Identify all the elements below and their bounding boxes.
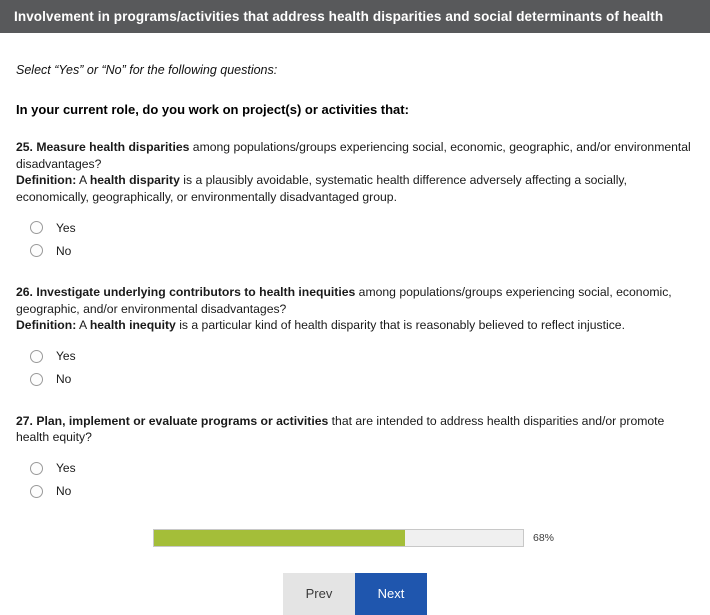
definition-25: Definition: A health disparity is a plau… bbox=[16, 172, 694, 205]
options-26: Yes No bbox=[16, 345, 694, 391]
radio-circle-icon[interactable] bbox=[30, 244, 43, 257]
radio-option-27-no[interactable]: No bbox=[16, 480, 694, 503]
definition-label-26: Definition: bbox=[16, 318, 76, 332]
question-number-27: 27. bbox=[16, 414, 33, 428]
option-label-no: No bbox=[56, 244, 71, 258]
option-label-yes: Yes bbox=[56, 349, 76, 363]
radio-option-25-yes[interactable]: Yes bbox=[16, 216, 694, 239]
progress-bar-fill bbox=[154, 530, 405, 546]
question-text-26: 26. Investigate underlying contributors … bbox=[16, 284, 694, 317]
radio-circle-icon[interactable] bbox=[30, 221, 43, 234]
radio-circle-icon[interactable] bbox=[30, 350, 43, 363]
options-25: Yes No bbox=[16, 216, 694, 262]
question-text-25: 25. Measure health disparities among pop… bbox=[16, 139, 694, 172]
prev-button[interactable]: Prev bbox=[283, 573, 355, 615]
radio-option-27-yes[interactable]: Yes bbox=[16, 457, 694, 480]
progress-bar-track bbox=[153, 529, 524, 547]
instruction-text: Select “Yes” or “No” for the following q… bbox=[16, 63, 694, 77]
progress-area: 68% bbox=[16, 529, 694, 547]
radio-circle-icon[interactable] bbox=[30, 462, 43, 475]
next-button[interactable]: Next bbox=[355, 573, 427, 615]
role-prompt-text: In your current role, do you work on pro… bbox=[16, 102, 694, 117]
question-block-27: 27. Plan, implement or evaluate programs… bbox=[16, 413, 694, 503]
options-27: Yes No bbox=[16, 457, 694, 503]
option-label-no: No bbox=[56, 484, 71, 498]
question-block-26: 26. Investigate underlying contributors … bbox=[16, 284, 694, 391]
radio-option-26-yes[interactable]: Yes bbox=[16, 345, 694, 368]
definition-term-25: health disparity bbox=[90, 173, 180, 187]
question-block-25: 25. Measure health disparities among pop… bbox=[16, 139, 694, 262]
definition-label-25: Definition: bbox=[16, 173, 76, 187]
option-label-no: No bbox=[56, 372, 71, 386]
navigation-buttons: Prev Next bbox=[16, 573, 694, 615]
option-label-yes: Yes bbox=[56, 461, 76, 475]
radio-option-25-no[interactable]: No bbox=[16, 239, 694, 262]
definition-pre-26: A bbox=[76, 318, 90, 332]
definition-rest-26: is a particular kind of health disparity… bbox=[176, 318, 625, 332]
radio-circle-icon[interactable] bbox=[30, 485, 43, 498]
page-header: Involvement in programs/activities that … bbox=[0, 0, 710, 33]
page-title: Involvement in programs/activities that … bbox=[14, 9, 663, 24]
definition-26: Definition: A health inequity is a parti… bbox=[16, 317, 694, 334]
question-lead-26: Investigate underlying contributors to h… bbox=[36, 285, 355, 299]
definition-term-26: health inequity bbox=[90, 318, 176, 332]
question-lead-25: Measure health disparities bbox=[36, 140, 189, 154]
question-number-26: 26. bbox=[16, 285, 33, 299]
definition-pre-25: A bbox=[76, 173, 90, 187]
progress-percent-label: 68% bbox=[533, 532, 554, 544]
survey-body: Select “Yes” or “No” for the following q… bbox=[0, 63, 710, 615]
option-label-yes: Yes bbox=[56, 221, 76, 235]
radio-circle-icon[interactable] bbox=[30, 373, 43, 386]
question-lead-27: Plan, implement or evaluate programs or … bbox=[36, 414, 328, 428]
radio-option-26-no[interactable]: No bbox=[16, 368, 694, 391]
question-number-25: 25. bbox=[16, 140, 33, 154]
question-text-27: 27. Plan, implement or evaluate programs… bbox=[16, 413, 694, 446]
